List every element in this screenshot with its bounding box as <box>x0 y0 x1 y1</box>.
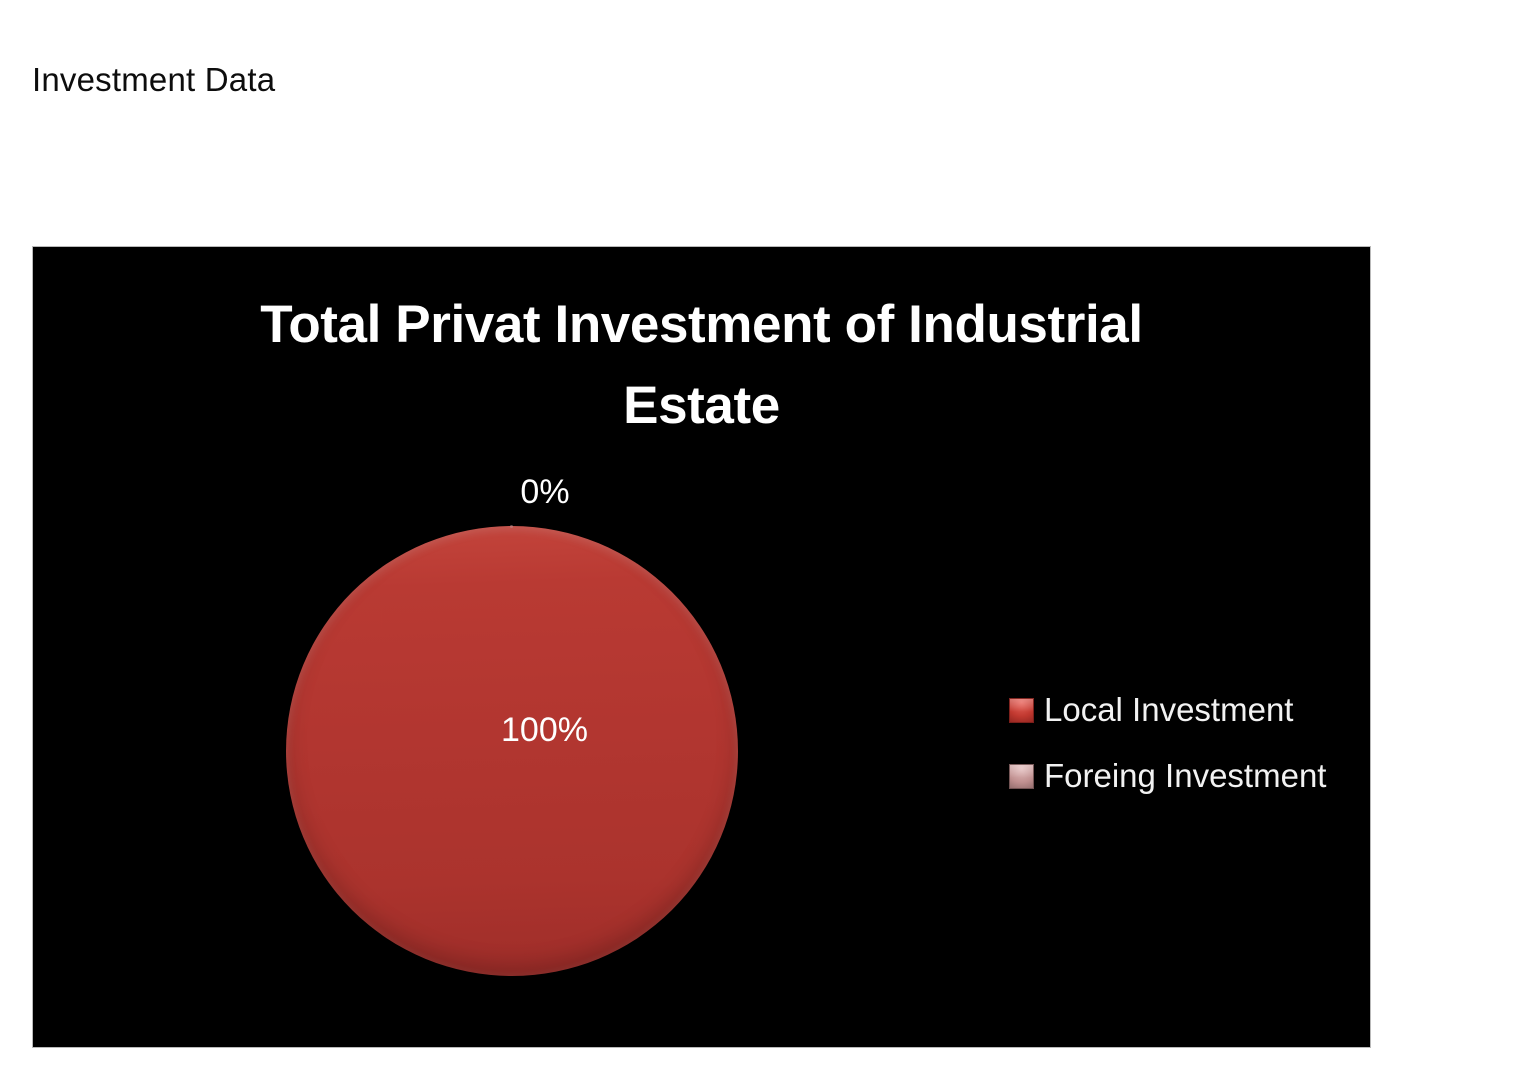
pie-chart <box>286 526 738 976</box>
legend-label-local-investment: Local Investment <box>1044 692 1293 728</box>
pie-chart-plot-area: 0% 100% Local Investment Foreing Investm… <box>33 247 1370 1047</box>
chart-legend: Local Investment Foreing Investment <box>1009 677 1359 809</box>
chart-panel: Total Privat Investment of Industrial Es… <box>32 246 1371 1048</box>
legend-item-local-investment[interactable]: Local Investment <box>1009 677 1359 743</box>
legend-label-foreing-investment: Foreing Investment <box>1044 758 1326 794</box>
page-title: Investment Data <box>32 60 275 100</box>
pie-data-label-foreing-investment: 0% <box>470 475 620 509</box>
legend-swatch-pink-icon <box>1009 764 1034 789</box>
pie-slice-local-investment[interactable] <box>286 526 738 976</box>
legend-item-foreing-investment[interactable]: Foreing Investment <box>1009 743 1359 809</box>
pie-data-label-local-investment: 100% <box>437 713 652 747</box>
legend-swatch-red-icon <box>1009 698 1034 723</box>
